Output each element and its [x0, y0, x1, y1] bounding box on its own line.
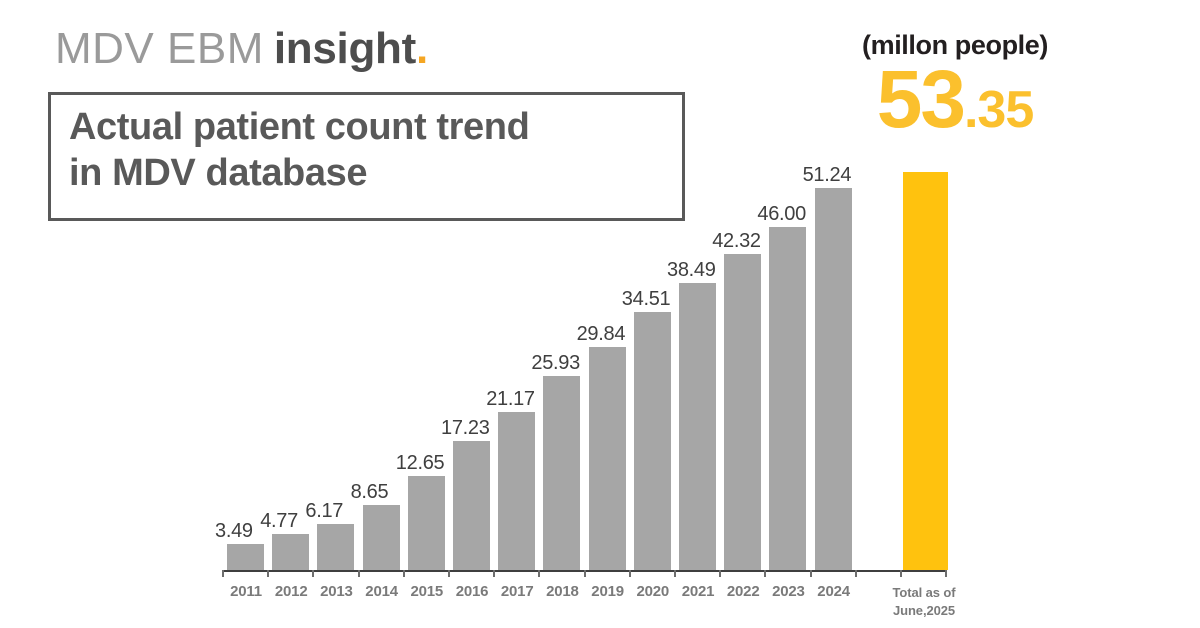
x-axis-label-2020: 2020: [629, 584, 677, 599]
bar-value-label: 12.65: [396, 453, 445, 473]
headline-figure: (millon people) 53.35: [862, 32, 1048, 139]
x-axis-tick: [719, 570, 721, 577]
bar-value-label: 29.84: [577, 324, 626, 344]
x-axis-tick: [855, 570, 857, 577]
bar-value-label: 42.32: [712, 231, 761, 251]
x-axis-tick: [584, 570, 586, 577]
x-axis-label-2013: 2013: [312, 584, 360, 599]
bar-2014: [363, 505, 400, 570]
x-axis-tick: [358, 570, 360, 577]
x-axis-tick: [900, 570, 902, 577]
x-axis-label-2015: 2015: [403, 584, 451, 599]
x-axis-label-2022: 2022: [719, 584, 767, 599]
bar-2022: [724, 254, 761, 570]
x-axis-tick: [538, 570, 540, 577]
bar-2019: [589, 347, 626, 570]
bar-2023: [769, 227, 806, 570]
headline-value-fraction: .35: [964, 81, 1033, 139]
headline-value-integer: 53: [877, 54, 964, 145]
x-axis-label-total-line-2: June,2025: [876, 602, 972, 620]
x-axis-label-2017: 2017: [493, 584, 541, 599]
x-axis-tick: [629, 570, 631, 577]
bar-2020: [634, 312, 671, 570]
brand-logo: MDV EBMinsight.: [55, 27, 428, 71]
bar-2017: [498, 412, 535, 570]
x-axis-tick: [312, 570, 314, 577]
bar-2016: [453, 441, 490, 570]
bar-slot: [584, 140, 632, 570]
bar-2013: [317, 524, 354, 570]
bar-slot: [900, 140, 948, 570]
x-axis-tick: [764, 570, 766, 577]
bar-slot: [448, 140, 496, 570]
x-axis-tick: [810, 570, 812, 577]
bar-value-label: 51.24: [803, 165, 852, 185]
bar-value-label: 6.17: [305, 501, 343, 521]
bar-slot: [222, 140, 270, 570]
logo-light-text: MDV EBM: [55, 24, 264, 73]
bar-slot: [674, 140, 722, 570]
x-axis-label-total-line-1: Total as of: [876, 584, 972, 602]
bar-slot: [810, 140, 858, 570]
x-axis-tick: [267, 570, 269, 577]
x-axis-label-total: Total as ofJune,2025: [876, 584, 972, 619]
bar-value-label: 4.77: [260, 511, 298, 531]
x-axis-tick: [493, 570, 495, 577]
bar-2015: [408, 476, 445, 570]
bar-value-label: 34.51: [622, 289, 671, 309]
bar-chart: 3.4920114.7720126.1720138.65201412.65201…: [222, 140, 946, 620]
bar-2024: [815, 188, 852, 570]
x-axis-tick: [448, 570, 450, 577]
bar-slot: [358, 140, 406, 570]
x-axis-tick: [222, 570, 224, 577]
bar-2011: [227, 544, 264, 570]
headline-value: 53.35: [862, 61, 1048, 139]
x-axis-label-2011: 2011: [222, 584, 270, 599]
bar-value-label: 8.65: [351, 482, 389, 502]
logo-bold-text: insight: [274, 24, 416, 73]
bar-value-label: 17.23: [441, 418, 490, 438]
bar-value-label: 46.00: [757, 204, 806, 224]
x-axis-label-2024: 2024: [810, 584, 858, 599]
x-axis-label-2021: 2021: [674, 584, 722, 599]
bar-value-label: 38.49: [667, 260, 716, 280]
bar-slot: [629, 140, 677, 570]
x-axis-label-2014: 2014: [358, 584, 406, 599]
logo-dot: .: [416, 24, 428, 73]
bar-2012: [272, 534, 309, 570]
bar-value-label: 25.93: [531, 353, 580, 373]
bar-slot: [403, 140, 451, 570]
x-axis-label-2016: 2016: [448, 584, 496, 599]
x-axis-label-2018: 2018: [538, 584, 586, 599]
x-axis-label-2023: 2023: [764, 584, 812, 599]
x-axis-label-2019: 2019: [584, 584, 632, 599]
x-axis-tick: [945, 570, 947, 577]
bar-2021: [679, 283, 716, 570]
bar-2018: [543, 376, 580, 570]
bar-value-label: 21.17: [486, 389, 535, 409]
x-axis-tick: [674, 570, 676, 577]
bar-value-label: 3.49: [215, 521, 253, 541]
bar-total: [903, 172, 948, 570]
x-axis-label-2012: 2012: [267, 584, 315, 599]
x-axis-tick: [403, 570, 405, 577]
